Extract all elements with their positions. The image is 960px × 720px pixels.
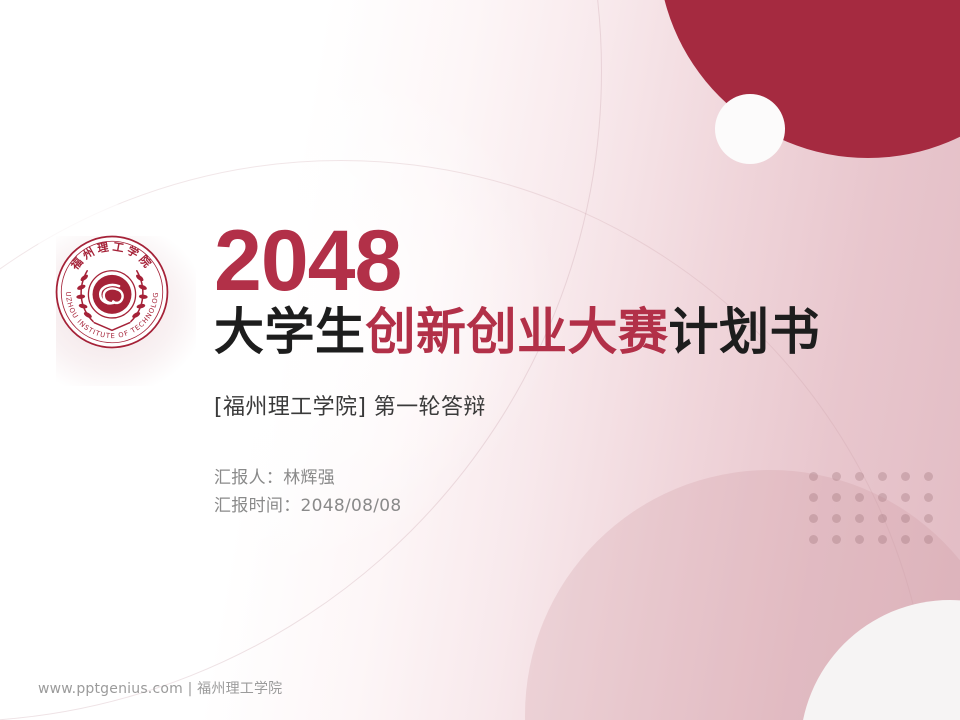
decorative-dot [924, 514, 933, 523]
decorative-dot [924, 472, 933, 481]
footer-text: www.pptgenius.com | 福州理工学院 [38, 678, 282, 698]
subtitle: [福州理工学院] 第一轮答辩 [214, 389, 914, 421]
decorative-dot [832, 535, 841, 544]
decorative-circle-white-small [715, 94, 785, 164]
headline-segment-leading: 大学生 [214, 303, 366, 361]
year-heading: 2048 [214, 222, 914, 301]
main-headline: 大学生创新创业大赛计划书 [214, 305, 914, 359]
decorative-dot [924, 535, 933, 544]
headline-segment-accent: 创新创业大赛 [366, 303, 669, 361]
presentation-slide: 福州理工学院 FUZHOU INSTITUTE OF TECHNOLOGY [0, 0, 960, 720]
decorative-dot [878, 535, 887, 544]
decorative-dot [901, 535, 910, 544]
decorative-dot [855, 535, 864, 544]
presenter-meta: 汇报人：林辉强 汇报时间：2048/08/08 [214, 465, 914, 520]
title-block: 2048 大学生创新创业大赛计划书 [福州理工学院] 第一轮答辩 汇报人：林辉强… [214, 222, 914, 520]
university-logo: 福州理工学院 FUZHOU INSTITUTE OF TECHNOLOGY [53, 233, 171, 351]
decorative-dot [924, 493, 933, 502]
decorative-dot [809, 535, 818, 544]
presentation-date: 汇报时间：2048/08/08 [214, 493, 914, 521]
headline-segment-trailing: 计划书 [669, 303, 821, 361]
presenter-name: 汇报人：林辉强 [214, 465, 914, 493]
